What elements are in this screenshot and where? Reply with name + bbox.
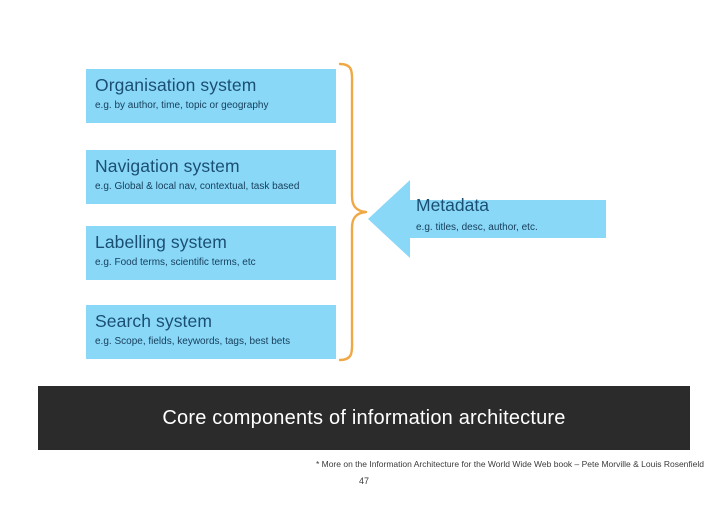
component-title: Labelling system: [95, 232, 327, 253]
component-title: Navigation system: [95, 156, 327, 177]
component-subtitle: e.g. Global & local nav, contextual, tas…: [95, 180, 327, 194]
component-box-organisation-system: Organisation system e.g. by author, time…: [86, 69, 336, 123]
metadata-title: Metadata: [416, 194, 606, 216]
page-number: 47: [0, 476, 728, 486]
component-box-search-system: Search system e.g. Scope, fields, keywor…: [86, 305, 336, 359]
component-subtitle: e.g. by author, time, topic or geography: [95, 99, 327, 113]
slide-caption: Core components of information architect…: [38, 386, 690, 450]
caption-band: Core components of information architect…: [38, 386, 690, 450]
curly-brace-icon: [336, 62, 370, 362]
component-title: Search system: [95, 311, 327, 332]
slide-canvas: Organisation system e.g. by author, time…: [0, 0, 728, 515]
footnote-text: * More on the Information Architecture f…: [284, 459, 704, 469]
component-box-labelling-system: Labelling system e.g. Food terms, scient…: [86, 226, 336, 280]
component-subtitle: e.g. Scope, fields, keywords, tags, best…: [95, 335, 327, 349]
component-box-navigation-system: Navigation system e.g. Global & local na…: [86, 150, 336, 204]
component-title: Organisation system: [95, 75, 327, 96]
metadata-label-group: Metadata e.g. titles, desc, author, etc.: [416, 194, 606, 235]
metadata-subtitle: e.g. titles, desc, author, etc.: [416, 221, 606, 235]
component-subtitle: e.g. Food terms, scientific terms, etc: [95, 256, 327, 270]
